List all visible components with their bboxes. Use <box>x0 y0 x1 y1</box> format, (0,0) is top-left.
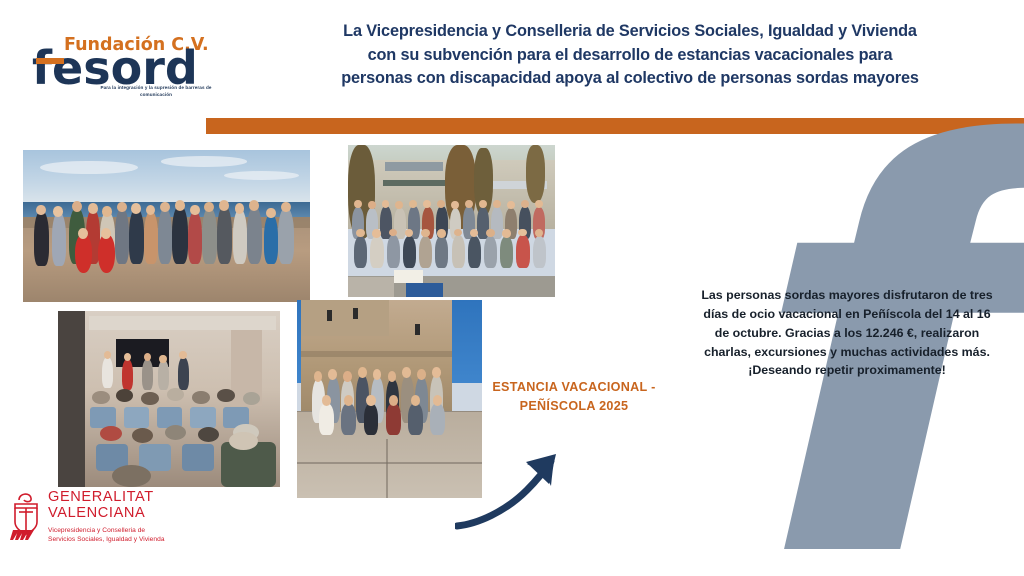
orange-divider-bar <box>206 118 1024 134</box>
curved-arrow-icon <box>455 428 595 533</box>
summary-line-2: días de ocio vacacional en Peñíscola del… <box>672 305 1022 324</box>
page-title: La Vicepresidencia y Conselleria de Serv… <box>252 20 1008 91</box>
poster-canvas: Fundación C.V. fesord Para la integració… <box>0 0 1024 576</box>
gva-shield-icon <box>10 488 42 544</box>
gva-sub-line-1: Vicepresidencia y Conselleria de <box>48 526 228 535</box>
summary-line-3: de octubre. Gracias a los 12.246 €, real… <box>672 324 1022 343</box>
summary-line-4: charlas, excursiones y muchas actividade… <box>672 343 1022 362</box>
photo-hotel-group <box>348 145 555 297</box>
gva-title: GENERALITAT VALENCIANA <box>48 490 228 522</box>
summary-line-5: ¡Deseando repetir proximamente! <box>672 361 1022 380</box>
fesord-tagline: Para la integración y la supresión de ba… <box>100 84 212 98</box>
gva-sub-line-2: Servicios Sociales, Igualdad y Vivienda <box>48 535 228 544</box>
caption-line-1: ESTANCIA VACACIONAL - <box>476 378 672 397</box>
headline-line-3: personas con discapacidad apoya al colec… <box>252 67 1008 91</box>
estancia-caption: ESTANCIA VACACIONAL - PEÑÍSCOLA 2025 <box>476 378 672 416</box>
photo-coast-group <box>23 150 310 302</box>
summary-text: Las personas sordas mayores disfrutaron … <box>672 286 1022 380</box>
generalitat-valenciana-logo: GENERALITAT VALENCIANA Vicepresidencia y… <box>10 488 230 560</box>
gva-department: Vicepresidencia y Conselleria de Servici… <box>48 526 228 544</box>
headline-line-1: La Vicepresidencia y Conselleria de Serv… <box>252 20 1008 44</box>
headline-line-2: con su subvención para el desarrollo de … <box>252 44 1008 68</box>
caption-line-2: PEÑÍSCOLA 2025 <box>476 397 672 416</box>
photo-conference-talk <box>58 311 280 487</box>
summary-line-1: Las personas sordas mayores disfrutaron … <box>672 286 1022 305</box>
gva-title-line-1: GENERALITAT <box>48 490 228 506</box>
gva-title-line-2: VALENCIANA <box>48 506 228 522</box>
